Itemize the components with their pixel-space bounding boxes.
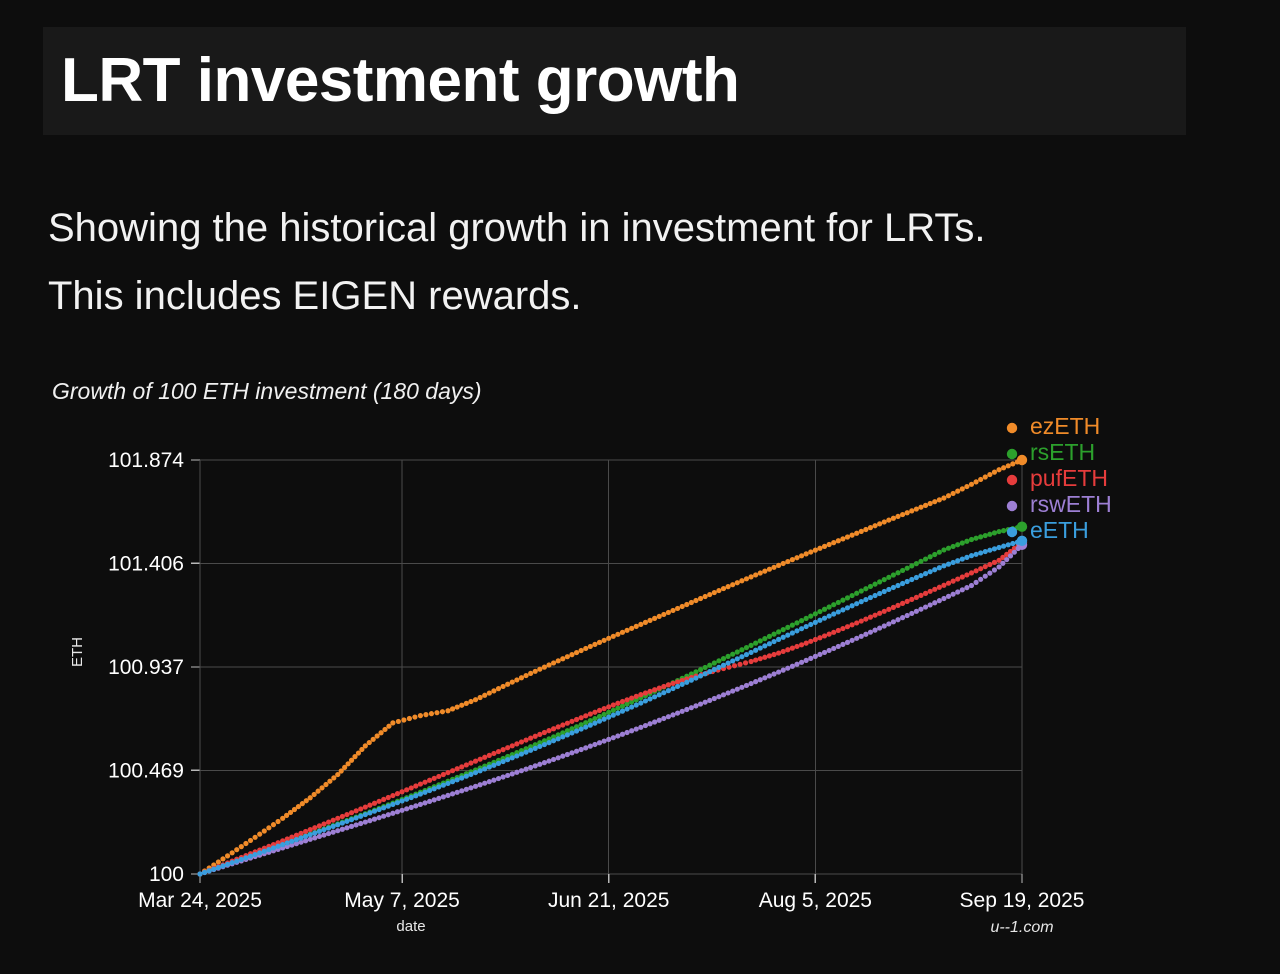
body-copy: Showing the historical growth in investm… <box>48 194 1198 330</box>
page-title: LRT investment growth <box>43 50 739 112</box>
line-chart: 100100.469100.937101.406101.874Mar 24, 2… <box>0 412 1280 952</box>
legend-marker-icon <box>1007 475 1017 485</box>
legend-label: rsETH <box>1030 439 1095 465</box>
series-ezETH <box>197 455 1027 877</box>
y-axis-tick-label: 101.406 <box>108 552 184 575</box>
y-axis-tick-label: 101.874 <box>108 449 184 472</box>
legend-label: eETH <box>1030 517 1089 543</box>
legend-item-rswETH[interactable]: rswETH <box>1007 491 1112 517</box>
chart-svg: 100100.469100.937101.406101.874Mar 24, 2… <box>0 412 1280 952</box>
legend-item-ezETH[interactable]: ezETH <box>1007 413 1100 439</box>
chart-caption: Growth of 100 ETH investment (180 days) <box>52 378 482 405</box>
x-axis-title: date <box>396 918 425 935</box>
legend-marker-icon <box>1007 423 1017 433</box>
y-axis-tick-label: 100 <box>149 863 184 886</box>
legend-marker-icon <box>1007 449 1017 459</box>
series-pufETH <box>197 537 1027 876</box>
watermark: u--1.com <box>990 919 1053 936</box>
legend-marker-icon <box>1007 527 1017 537</box>
series-endpoint <box>1017 536 1027 546</box>
x-axis-tick-label: Sep 19, 2025 <box>960 889 1085 912</box>
legend-label: ezETH <box>1030 413 1100 439</box>
x-axis-tick-label: May 7, 2025 <box>344 889 460 912</box>
legend-marker-icon <box>1007 501 1017 511</box>
legend-label: rswETH <box>1030 491 1112 517</box>
x-axis-tick-label: Jun 21, 2025 <box>548 889 669 912</box>
body-line-1: Showing the historical growth in investm… <box>48 194 1198 262</box>
x-axis-tick-label: Mar 24, 2025 <box>138 889 262 912</box>
series-endpoint <box>1017 522 1027 532</box>
legend-label: pufETH <box>1030 465 1108 491</box>
title-banner: LRT investment growth <box>43 27 1186 135</box>
series-endpoint <box>1017 455 1027 465</box>
x-axis-tick-label: Aug 5, 2025 <box>759 889 872 912</box>
y-axis-tick-label: 100.937 <box>108 656 184 679</box>
y-axis-title: ETH <box>69 637 86 667</box>
body-line-2: This includes EIGEN rewards. <box>48 262 1198 330</box>
y-axis-tick-label: 100.469 <box>108 759 184 782</box>
